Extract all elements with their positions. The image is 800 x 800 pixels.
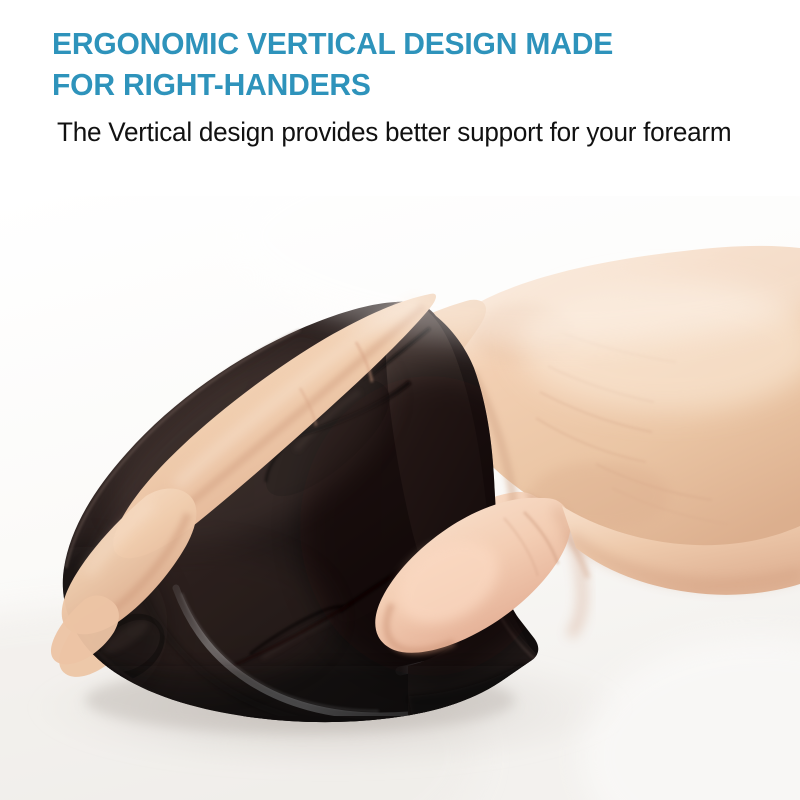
product-feature-page: ERGONOMIC VERTICAL DESIGN MADE FOR RIGHT…	[0, 0, 800, 800]
page-title: ERGONOMIC VERTICAL DESIGN MADE FOR RIGHT…	[52, 24, 740, 105]
product-photo	[0, 196, 800, 800]
page-subtitle: The Vertical design provides better supp…	[57, 113, 740, 152]
text-block: ERGONOMIC VERTICAL DESIGN MADE FOR RIGHT…	[0, 0, 800, 152]
hand-on-vertical-mouse-illustration	[0, 196, 800, 800]
